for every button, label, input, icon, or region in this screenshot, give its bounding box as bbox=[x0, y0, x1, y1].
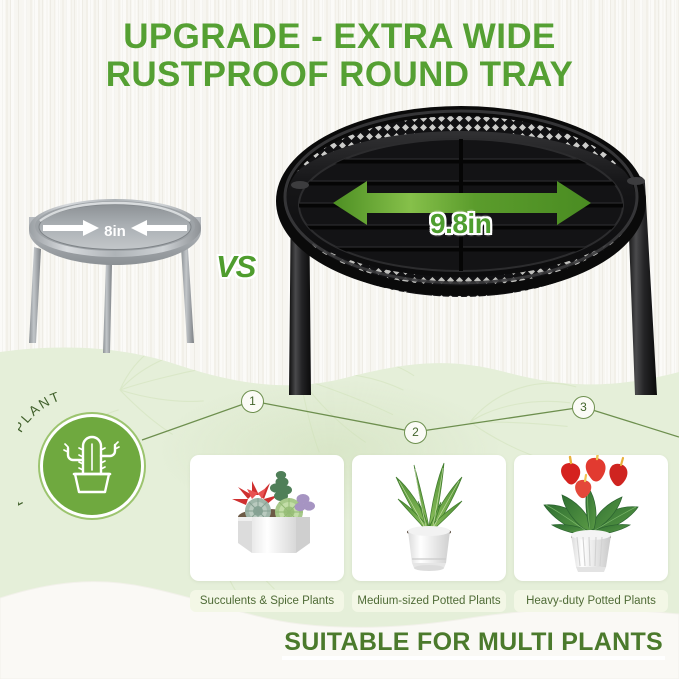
succulents-hexagon-pot-icon bbox=[190, 455, 344, 581]
page-title: UPGRADE - EXTRA WIDE RUSTPROOF ROUND TRA… bbox=[0, 18, 679, 94]
tagline-text: SUITABLE FOR MULTI PLANTS bbox=[284, 628, 663, 656]
plant-card-3[interactable] bbox=[514, 455, 668, 581]
tagline-container: SUITABLE FOR MULTI PLANTS bbox=[0, 628, 679, 657]
infographic-stage: UPGRADE - EXTRA WIDE RUSTPROOF ROUND TRA… bbox=[0, 0, 679, 679]
plant-card-label-1: Succulents & Spice Plants bbox=[190, 590, 344, 612]
new-tray-dimension-label: 9.8in bbox=[430, 208, 491, 240]
step-marker-3: 3 bbox=[572, 396, 595, 419]
headline-line-1: UPGRADE - EXTRA WIDE bbox=[123, 17, 556, 56]
cactus-icon bbox=[64, 437, 119, 492]
ribbed-pot bbox=[571, 530, 611, 572]
plant-card-label-3: Heavy-duty Potted Plants bbox=[514, 590, 668, 612]
hexagon-pot bbox=[238, 517, 310, 553]
plant-card-1[interactable] bbox=[190, 455, 344, 581]
anthurium-flower bbox=[561, 457, 580, 485]
tagline-underline bbox=[282, 656, 665, 660]
step-connector bbox=[120, 385, 679, 460]
step-marker-1: 1 bbox=[241, 390, 264, 413]
plant-card-label-2: Medium-sized Potted Plants bbox=[352, 590, 506, 612]
old-tray-illustration: 8in bbox=[20, 195, 210, 355]
badge-arc-text: POTTED PLANT bbox=[18, 392, 63, 510]
new-tray-illustration bbox=[275, 105, 670, 395]
round-pot bbox=[408, 526, 450, 571]
plant-card-2[interactable] bbox=[352, 455, 506, 581]
step-marker-2: 2 bbox=[404, 421, 427, 444]
anthurium-ribbed-pot-icon bbox=[514, 455, 668, 581]
aloe-round-pot-icon bbox=[352, 455, 506, 581]
old-tray-dimension-label: 8in bbox=[104, 223, 126, 240]
tagline: SUITABLE FOR MULTI PLANTS bbox=[284, 628, 663, 657]
headline-line-2: RUSTPROOF ROUND TRAY bbox=[0, 56, 679, 94]
versus-label: VS bbox=[216, 249, 255, 285]
